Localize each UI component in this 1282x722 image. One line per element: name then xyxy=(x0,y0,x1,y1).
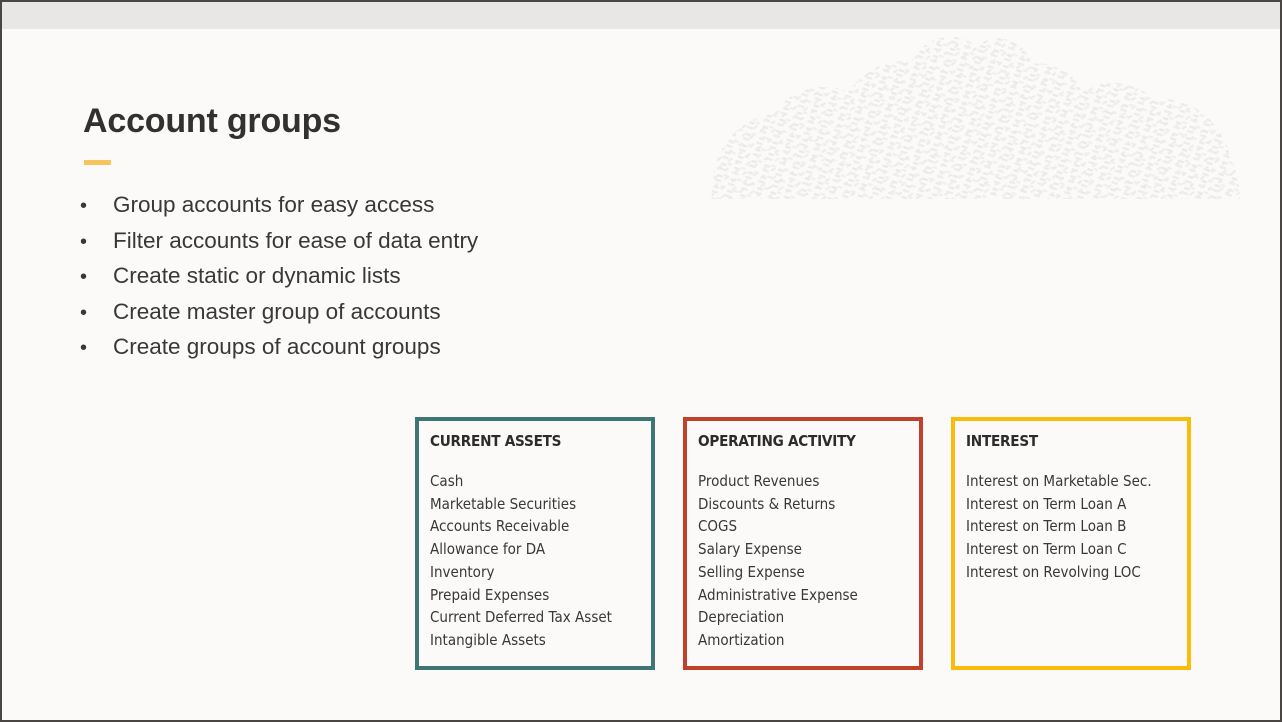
list-item: • Group accounts for easy access xyxy=(80,194,720,230)
account-group-card-operating-activity: OPERATING ACTIVITY Product Revenues Disc… xyxy=(683,417,923,670)
account-group-item: Accounts Receivable xyxy=(430,515,629,538)
account-group-heading: INTEREST xyxy=(966,432,1160,450)
account-group-item: Discounts & Returns xyxy=(698,493,897,516)
account-group-item: Administrative Expense xyxy=(698,584,897,607)
slide-canvas: Account groups • Group accounts for easy… xyxy=(0,0,1282,722)
feature-bullet-list: • Group accounts for easy access • Filte… xyxy=(80,194,720,372)
window-top-bar xyxy=(2,2,1280,29)
bullet-dot-icon: • xyxy=(80,267,113,287)
account-group-item: Cash xyxy=(430,470,629,493)
bullet-dot-icon: • xyxy=(80,196,113,216)
page-title: Account groups xyxy=(83,102,341,141)
account-group-item: Interest on Marketable Sec. xyxy=(966,470,1165,493)
list-item: • Create static or dynamic lists xyxy=(80,265,720,301)
account-group-item: Product Revenues xyxy=(698,470,897,493)
account-group-item: Depreciation xyxy=(698,606,897,629)
bullet-dot-icon: • xyxy=(80,338,113,358)
account-group-item: Current Deferred Tax Asset xyxy=(430,606,629,629)
account-group-item: Allowance for DA xyxy=(430,538,629,561)
list-item-label: Create master group of accounts xyxy=(113,301,441,324)
account-group-item: Inventory xyxy=(430,561,629,584)
title-accent-bar xyxy=(84,160,111,165)
account-group-card-current-assets: CURRENT ASSETS Cash Marketable Securitie… xyxy=(415,417,655,670)
list-item-label: Group accounts for easy access xyxy=(113,194,434,217)
list-item: • Create master group of accounts xyxy=(80,301,720,337)
account-group-item-list: Interest on Marketable Sec. Interest on … xyxy=(966,470,1187,584)
account-group-item: Interest on Term Loan C xyxy=(966,538,1165,561)
account-group-heading: OPERATING ACTIVITY xyxy=(698,432,892,450)
list-item-label: Filter accounts for ease of data entry xyxy=(113,230,478,253)
bullet-dot-icon: • xyxy=(80,303,113,323)
account-group-item: Salary Expense xyxy=(698,538,897,561)
bullet-dot-icon: • xyxy=(80,232,113,252)
account-group-item: Amortization xyxy=(698,629,897,652)
textured-cloud-graphic xyxy=(702,34,1247,199)
account-group-item: Interest on Term Loan B xyxy=(966,515,1165,538)
account-group-item: Marketable Securities xyxy=(430,493,629,516)
account-group-item: Interest on Term Loan A xyxy=(966,493,1165,516)
list-item-label: Create static or dynamic lists xyxy=(113,265,401,288)
account-group-item-list: Product Revenues Discounts & Returns COG… xyxy=(698,470,919,652)
account-group-item: Intangible Assets xyxy=(430,629,629,652)
account-group-card-interest: INTEREST Interest on Marketable Sec. Int… xyxy=(951,417,1191,670)
account-group-item-list: Cash Marketable Securities Accounts Rece… xyxy=(430,470,651,652)
account-group-item: COGS xyxy=(698,515,897,538)
list-item-label: Create groups of account groups xyxy=(113,336,441,359)
account-group-heading: CURRENT ASSETS xyxy=(430,432,624,450)
account-group-item: Interest on Revolving LOC xyxy=(966,561,1165,584)
account-group-item: Prepaid Expenses xyxy=(430,584,629,607)
account-group-item: Selling Expense xyxy=(698,561,897,584)
list-item: • Create groups of account groups xyxy=(80,336,720,372)
list-item: • Filter accounts for ease of data entry xyxy=(80,230,720,266)
